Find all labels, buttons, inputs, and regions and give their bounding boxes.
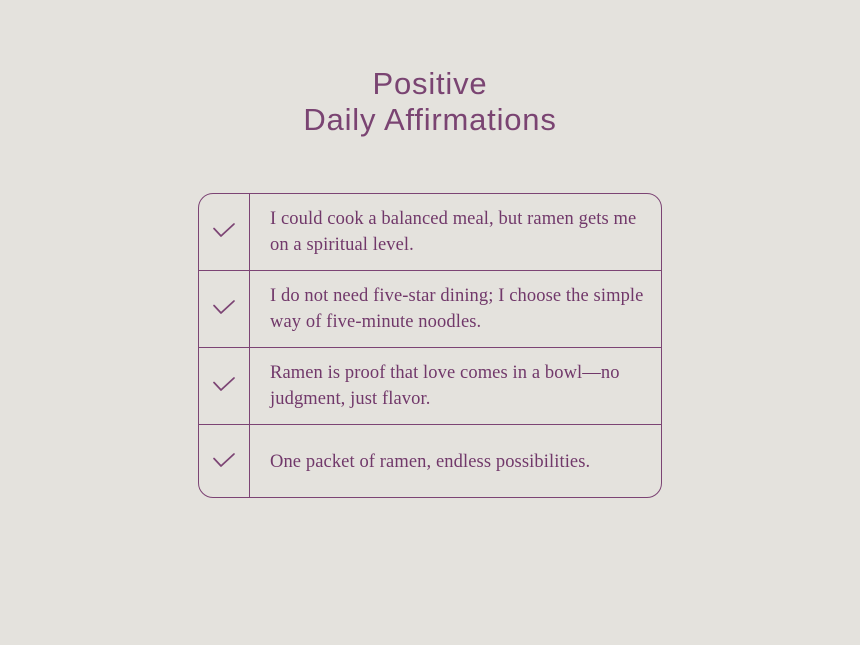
- affirmation-text: One packet of ramen, endless possibiliti…: [270, 449, 590, 475]
- page-title-line-2: Daily Affirmations: [0, 102, 860, 138]
- affirmation-text-cell: One packet of ramen, endless possibiliti…: [250, 425, 661, 498]
- list-item[interactable]: I do not need five-star dining; I choose…: [199, 271, 661, 348]
- affirmations-poster: Positive Daily Affirmations I could cook…: [0, 0, 860, 645]
- list-item[interactable]: I could cook a balanced meal, but ramen …: [199, 194, 661, 271]
- affirmation-text: I could cook a balanced meal, but ramen …: [270, 206, 647, 258]
- affirmations-checklist: I could cook a balanced meal, but ramen …: [198, 193, 662, 498]
- checkbox-cell[interactable]: [199, 425, 250, 498]
- checkmark-icon: [211, 373, 237, 399]
- page-title-line-1: Positive: [0, 66, 860, 102]
- page-title: Positive Daily Affirmations: [0, 66, 860, 138]
- affirmation-text: I do not need five-star dining; I choose…: [270, 283, 647, 335]
- affirmation-text-cell: Ramen is proof that love comes in a bowl…: [250, 348, 661, 424]
- checkbox-cell[interactable]: [199, 348, 250, 424]
- affirmation-text-cell: I do not need five-star dining; I choose…: [250, 271, 661, 347]
- affirmation-text-cell: I could cook a balanced meal, but ramen …: [250, 194, 661, 270]
- checkmark-icon: [211, 296, 237, 322]
- affirmation-text: Ramen is proof that love comes in a bowl…: [270, 360, 647, 412]
- checkbox-cell[interactable]: [199, 194, 250, 270]
- list-item[interactable]: One packet of ramen, endless possibiliti…: [199, 425, 661, 498]
- checkmark-icon: [211, 449, 237, 475]
- checkmark-icon: [211, 219, 237, 245]
- checkbox-cell[interactable]: [199, 271, 250, 347]
- list-item[interactable]: Ramen is proof that love comes in a bowl…: [199, 348, 661, 425]
